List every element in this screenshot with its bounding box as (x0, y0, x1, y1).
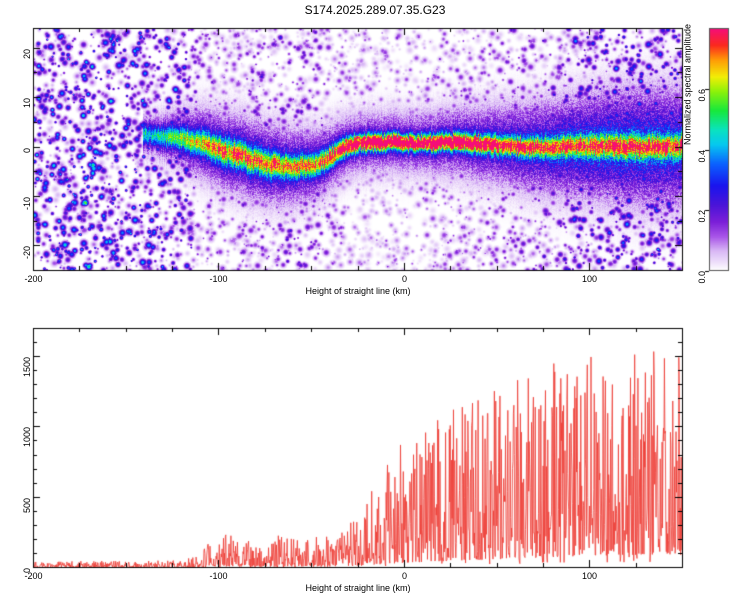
plot-canvas (0, 0, 750, 600)
figure-container: S174.2025.289.07.35.G23 Height of straig… (0, 0, 750, 600)
